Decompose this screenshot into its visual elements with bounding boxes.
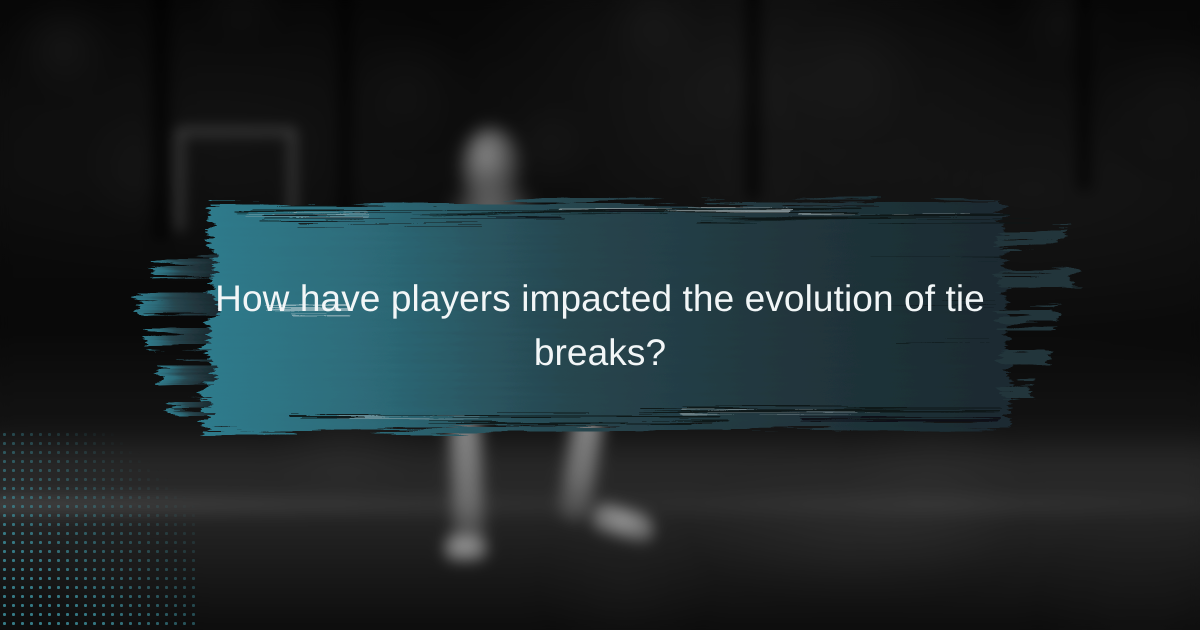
social-share-card: How have players impacted the evolution …	[0, 0, 1200, 630]
halftone-dot-pattern	[0, 430, 200, 630]
headline-text: How have players impacted the evolution …	[170, 272, 1030, 380]
